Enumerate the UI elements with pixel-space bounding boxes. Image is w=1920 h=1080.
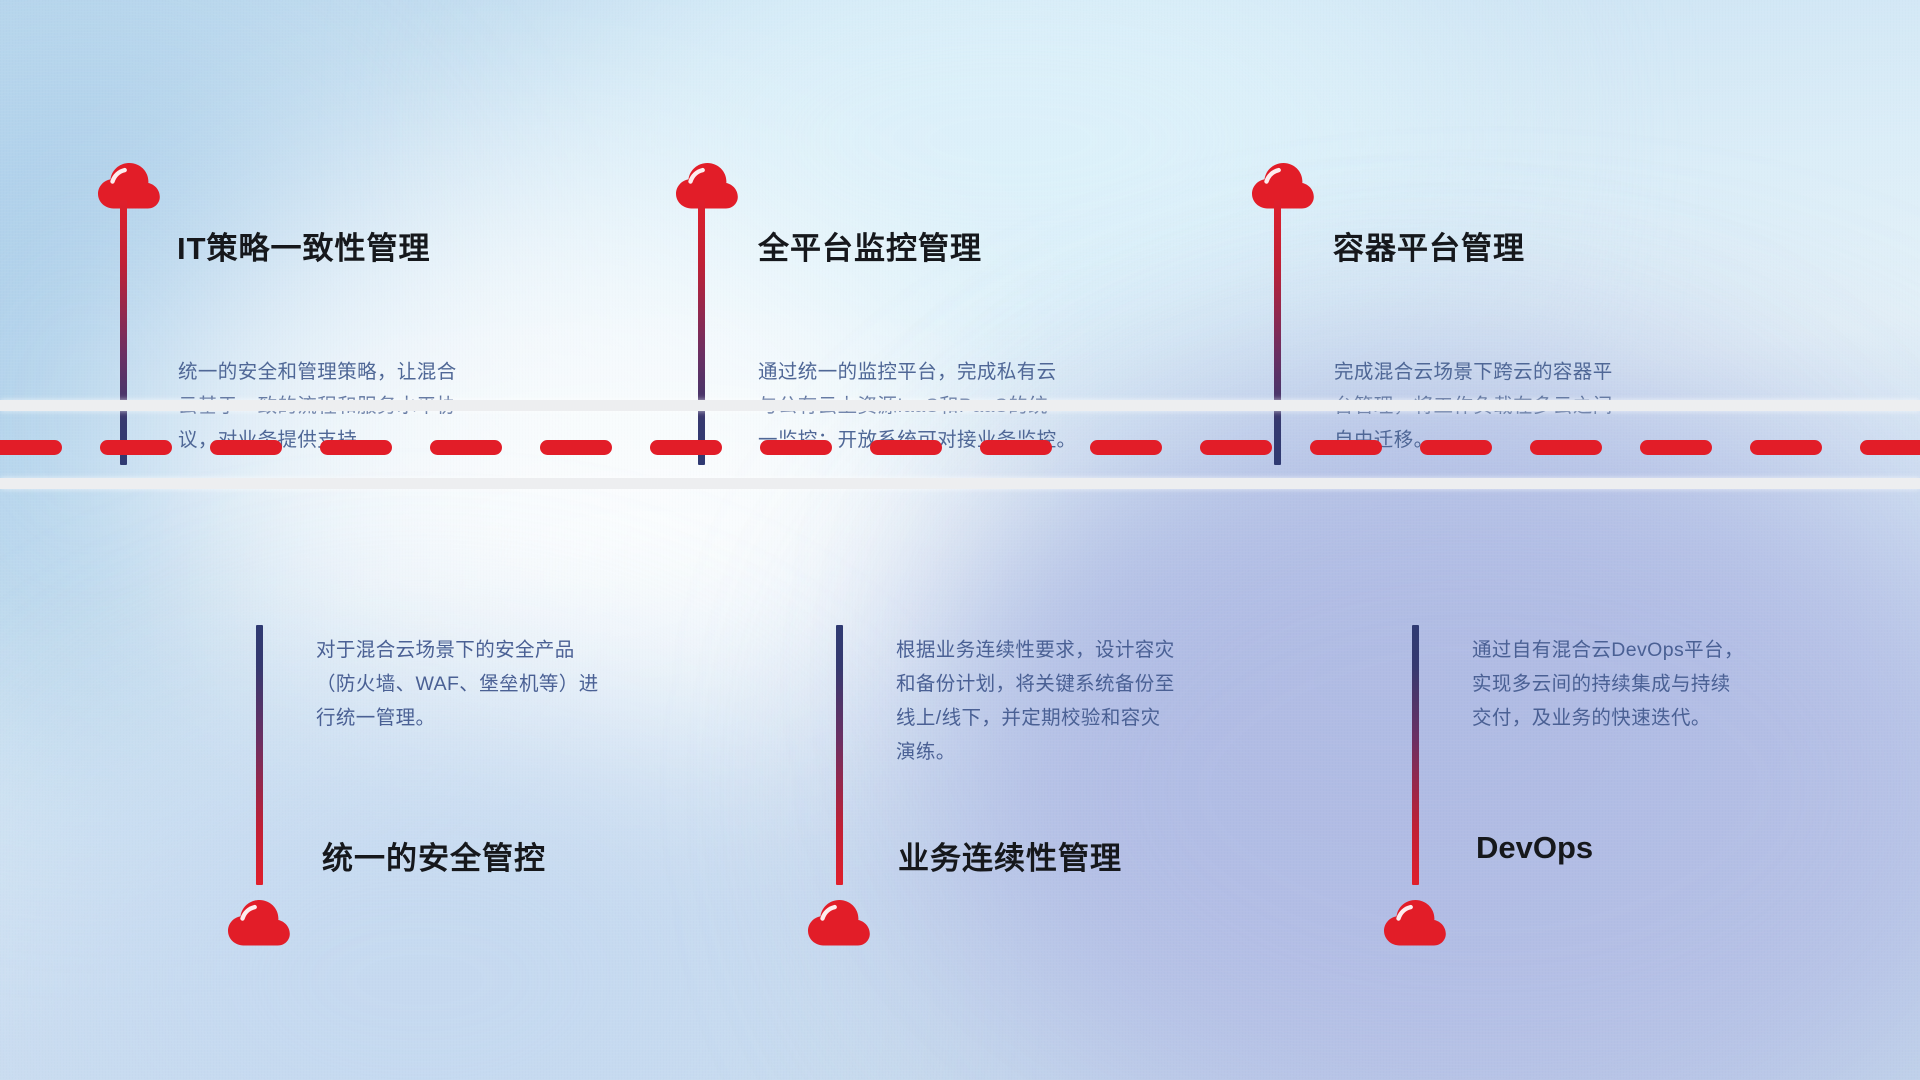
connector-stem-it-policy-consistency (120, 200, 127, 465)
connector-stem-container-platform-management (1274, 200, 1281, 465)
road-dash-segment (650, 440, 722, 455)
cloud-marker-container-platform-management (1252, 163, 1314, 209)
heading-full-platform-monitoring: 全平台监控管理 (758, 223, 982, 268)
road-dash-segment (870, 440, 942, 455)
road-dash-segment (540, 440, 612, 455)
road-dash-segment (430, 440, 502, 455)
road-dash-segment (1090, 440, 1162, 455)
road-dash-segment (100, 440, 172, 455)
cloud-icon (808, 900, 870, 946)
heading-container-platform-management: 容器平台管理 (1333, 223, 1525, 268)
connector-stem-unified-security-control (256, 625, 263, 885)
cloud-icon (98, 163, 160, 209)
road-edge-bottom (0, 478, 1920, 489)
body-devops: 通过自有混合云DevOps平台， 实现多云间的持续集成与持续 交付，及业务的快速… (1472, 633, 1912, 735)
body-unified-security-control: 对于混合云场景下的安全产品 （防火墙、WAF、堡垒机等）进 行统一管理。 (316, 633, 746, 735)
cloud-marker-full-platform-monitoring (676, 163, 738, 209)
connector-stem-full-platform-monitoring (698, 200, 705, 465)
road-dash-segment (760, 440, 832, 455)
road-dash-segment (1640, 440, 1712, 455)
road-center-dashed-line (0, 440, 1920, 455)
heading-business-continuity-management: 业务连续性管理 (898, 833, 1122, 878)
cloud-icon (1384, 900, 1446, 946)
connector-stem-devops (1412, 625, 1419, 885)
cloud-marker-devops (1384, 900, 1446, 946)
road-dash-segment (980, 440, 1052, 455)
road-dash-segment (320, 440, 392, 455)
heading-it-policy-consistency: IT策略一致性管理 (177, 223, 431, 268)
road-edge-top (0, 400, 1920, 411)
heading-unified-security-control: 统一的安全管控 (322, 833, 546, 878)
road-dash-segment (1310, 440, 1382, 455)
cloud-marker-business-continuity-management (808, 900, 870, 946)
connector-stem-business-continuity-management (836, 625, 843, 885)
road-dash-segment (1200, 440, 1272, 455)
road-dash-segment (0, 440, 62, 455)
cloud-icon (1252, 163, 1314, 209)
road-dash-segment (1530, 440, 1602, 455)
road-dash-segment (1420, 440, 1492, 455)
road-dash-segment (1750, 440, 1822, 455)
infographic-canvas: IT策略一致性管理 统一的安全和管理策略，让混合 云基于一致的流程和服务水平协 … (0, 0, 1920, 1080)
cloud-marker-it-policy-consistency (98, 163, 160, 209)
cloud-icon (676, 163, 738, 209)
cloud-marker-unified-security-control (228, 900, 290, 946)
road-dash-segment (210, 440, 282, 455)
road-dash-segment (1860, 440, 1920, 455)
heading-devops: DevOps (1476, 830, 1593, 866)
body-business-continuity-management: 根据业务连续性要求，设计容灾 和备份计划，将关键系统备份至 线上/线下，并定期校… (896, 633, 1336, 769)
cloud-icon (228, 900, 290, 946)
